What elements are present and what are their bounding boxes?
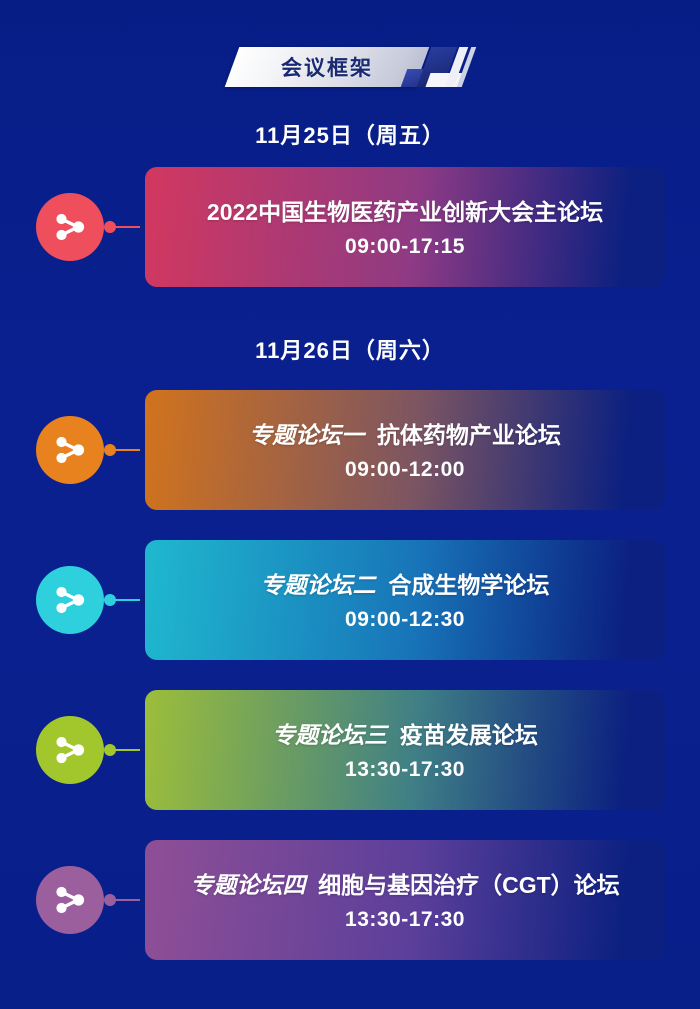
session-time: 09:00-17:15 bbox=[345, 235, 465, 259]
connector-dot-outer bbox=[104, 221, 116, 233]
connector-line bbox=[104, 225, 145, 229]
session-title: 专题论坛四 细胞与基因治疗（CGT）论坛 bbox=[190, 872, 619, 900]
session-row[interactable]: 专题论坛四 细胞与基因治疗（CGT）论坛13:30-17:30 bbox=[0, 840, 700, 960]
share-network-icon bbox=[36, 716, 104, 784]
date-heading-1: 11月25日（周五） bbox=[0, 118, 700, 150]
share-network-icon bbox=[36, 566, 104, 634]
session-title-lead: 专题论坛四 bbox=[190, 872, 305, 898]
session-card[interactable]: 专题论坛一 抗体药物产业论坛09:00-12:00 bbox=[145, 390, 665, 510]
session-card[interactable]: 专题论坛三 疫苗发展论坛13:30-17:30 bbox=[145, 690, 665, 810]
session-title-rest: 细胞与基因治疗（CGT）论坛 bbox=[318, 872, 620, 898]
connector-dot-outer bbox=[104, 894, 116, 906]
session-card[interactable]: 专题论坛二 合成生物学论坛09:00-12:30 bbox=[145, 540, 665, 660]
connector-line bbox=[104, 448, 145, 452]
session-title: 专题论坛一 抗体药物产业论坛 bbox=[249, 422, 561, 450]
session-time: 09:00-12:30 bbox=[345, 608, 465, 632]
connector-dot-outer bbox=[104, 594, 116, 606]
session-title-rest: 合成生物学论坛 bbox=[388, 572, 549, 598]
session-card-content: 专题论坛四 细胞与基因治疗（CGT）论坛13:30-17:30 bbox=[145, 840, 665, 960]
session-title: 专题论坛三 疫苗发展论坛 bbox=[272, 722, 538, 750]
connector-line bbox=[104, 598, 145, 602]
session-row[interactable]: 专题论坛一 抗体药物产业论坛09:00-12:00 bbox=[0, 390, 700, 510]
date-heading-2: 11月26日（周六） bbox=[0, 333, 700, 365]
connector-dot-outer bbox=[104, 444, 116, 456]
session-card[interactable]: 2022中国生物医药产业创新大会主论坛09:00-17:15 bbox=[145, 167, 665, 287]
share-network-icon bbox=[36, 416, 104, 484]
session-time: 09:00-12:00 bbox=[345, 458, 465, 482]
session-row[interactable]: 专题论坛二 合成生物学论坛09:00-12:30 bbox=[0, 540, 700, 660]
session-title: 专题论坛二 合成生物学论坛 bbox=[261, 572, 550, 600]
banner-title: 会议框架 bbox=[232, 47, 422, 87]
session-title-lead: 专题论坛二 bbox=[261, 572, 376, 598]
session-title-lead: 专题论坛三 bbox=[272, 722, 387, 748]
session-card-content: 2022中国生物医药产业创新大会主论坛09:00-17:15 bbox=[145, 167, 665, 287]
session-card-content: 专题论坛二 合成生物学论坛09:00-12:30 bbox=[145, 540, 665, 660]
session-card-content: 专题论坛一 抗体药物产业论坛09:00-12:00 bbox=[145, 390, 665, 510]
session-time: 13:30-17:30 bbox=[345, 758, 465, 782]
share-network-icon bbox=[36, 193, 104, 261]
session-row[interactable]: 2022中国生物医药产业创新大会主论坛09:00-17:15 bbox=[0, 167, 700, 287]
session-title-lead: 专题论坛一 bbox=[249, 422, 364, 448]
conference-schedule-poster: 会议框架 11月25日（周五） 2022中国生物医药产业创新大会主论坛09:00… bbox=[0, 0, 700, 1009]
connector-line bbox=[104, 748, 145, 752]
session-card[interactable]: 专题论坛四 细胞与基因治疗（CGT）论坛13:30-17:30 bbox=[145, 840, 665, 960]
session-row[interactable]: 专题论坛三 疫苗发展论坛13:30-17:30 bbox=[0, 690, 700, 810]
session-card-content: 专题论坛三 疫苗发展论坛13:30-17:30 bbox=[145, 690, 665, 810]
connector-dot-outer bbox=[104, 744, 116, 756]
session-time: 13:30-17:30 bbox=[345, 908, 465, 932]
session-title-rest: 疫苗发展论坛 bbox=[400, 722, 538, 748]
section-header-banner: 会议框架 bbox=[0, 47, 700, 95]
share-network-icon bbox=[36, 866, 104, 934]
connector-line bbox=[104, 898, 145, 902]
session-title: 2022中国生物医药产业创新大会主论坛 bbox=[207, 199, 603, 227]
session-title-rest: 抗体药物产业论坛 bbox=[377, 422, 561, 448]
